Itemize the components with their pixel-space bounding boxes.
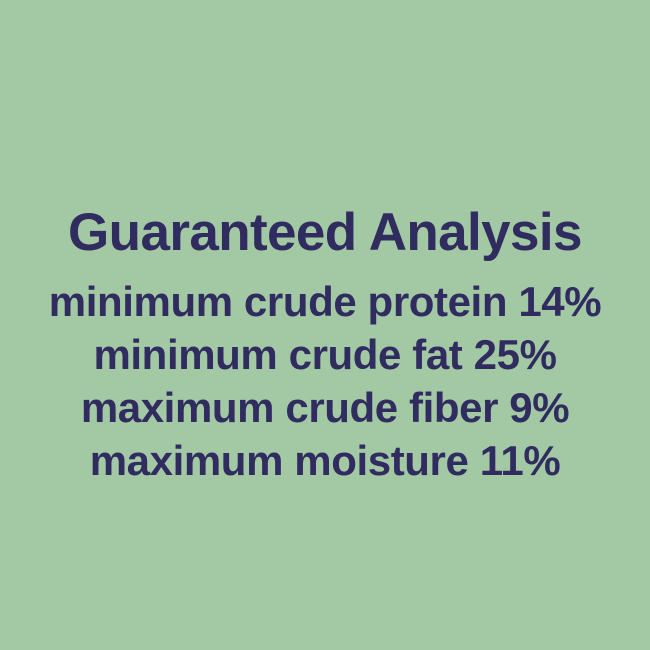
- guaranteed-analysis-panel: Guaranteed Analysis minimum crude protei…: [0, 0, 650, 650]
- list-item: maximum crude fiber 9%: [0, 381, 650, 434]
- list-item: minimum crude protein 14%: [0, 275, 650, 328]
- list-item: minimum crude fat 25%: [0, 328, 650, 381]
- page-title: Guaranteed Analysis: [0, 204, 650, 262]
- list-item: maximum moisture 11%: [0, 434, 650, 487]
- analysis-list: minimum crude protein 14% minimum crude …: [0, 275, 650, 487]
